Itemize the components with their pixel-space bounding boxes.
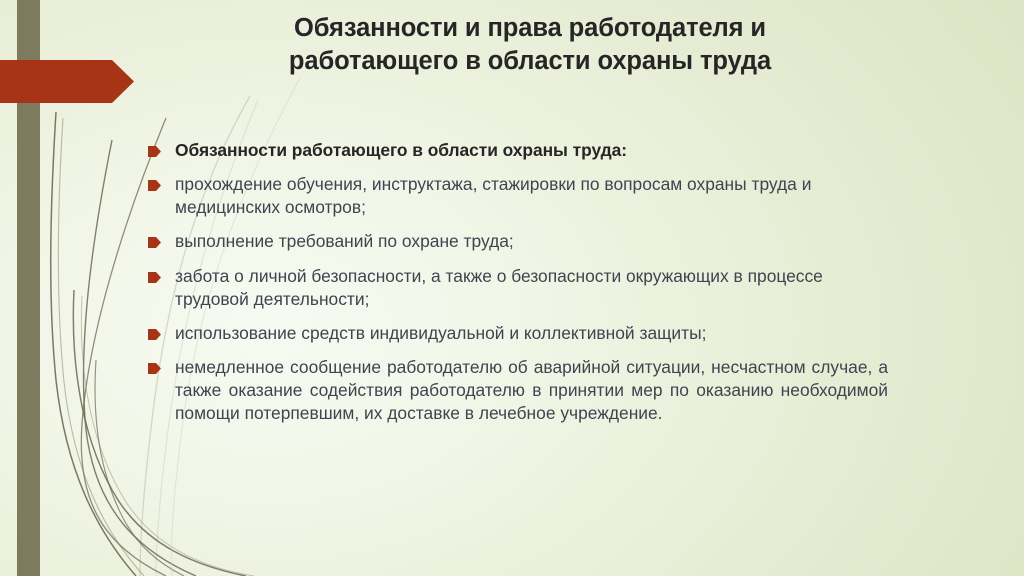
list-item: немедленное сообщение работодателю об ав… — [148, 356, 888, 425]
arrow-bullet-icon — [148, 272, 161, 283]
arrow-bullet-icon — [148, 146, 161, 157]
page-title: Обязанности и права работодателя и работ… — [180, 12, 880, 78]
arrow-bullet-icon — [148, 363, 161, 374]
arrow-bullet-icon — [148, 180, 161, 191]
page-title-line-2: работающего в области охраны труда — [180, 45, 880, 78]
arrow-bullet-icon — [148, 237, 161, 248]
list-item-label: забота о личной безопасности, а также о … — [175, 265, 888, 311]
presentation-slide: Обязанности и права работодателя и работ… — [0, 0, 1024, 576]
list-item-label: выполнение требований по охране труда; — [175, 230, 888, 253]
list-item-label: немедленное сообщение работодателю об ав… — [175, 356, 888, 425]
page-title-line-1: Обязанности и права работодателя и — [180, 12, 880, 45]
arrow-bullet-icon — [148, 329, 161, 340]
red-arrow-banner-icon — [0, 60, 134, 103]
list-item-label: использование средств индивидуальной и к… — [175, 322, 888, 345]
list-item: Обязанности работающего в области охраны… — [148, 139, 888, 162]
list-item: прохождение обучения, инструктажа, стажи… — [148, 173, 888, 219]
list-item: выполнение требований по охране труда; — [148, 230, 888, 253]
bullet-list: Обязанности работающего в области охраны… — [148, 139, 888, 425]
list-item: использование средств индивидуальной и к… — [148, 322, 888, 345]
list-item-label: прохождение обучения, инструктажа, стажи… — [175, 173, 888, 219]
list-item: забота о личной безопасности, а также о … — [148, 265, 888, 311]
list-item-label: Обязанности работающего в области охраны… — [175, 139, 888, 162]
